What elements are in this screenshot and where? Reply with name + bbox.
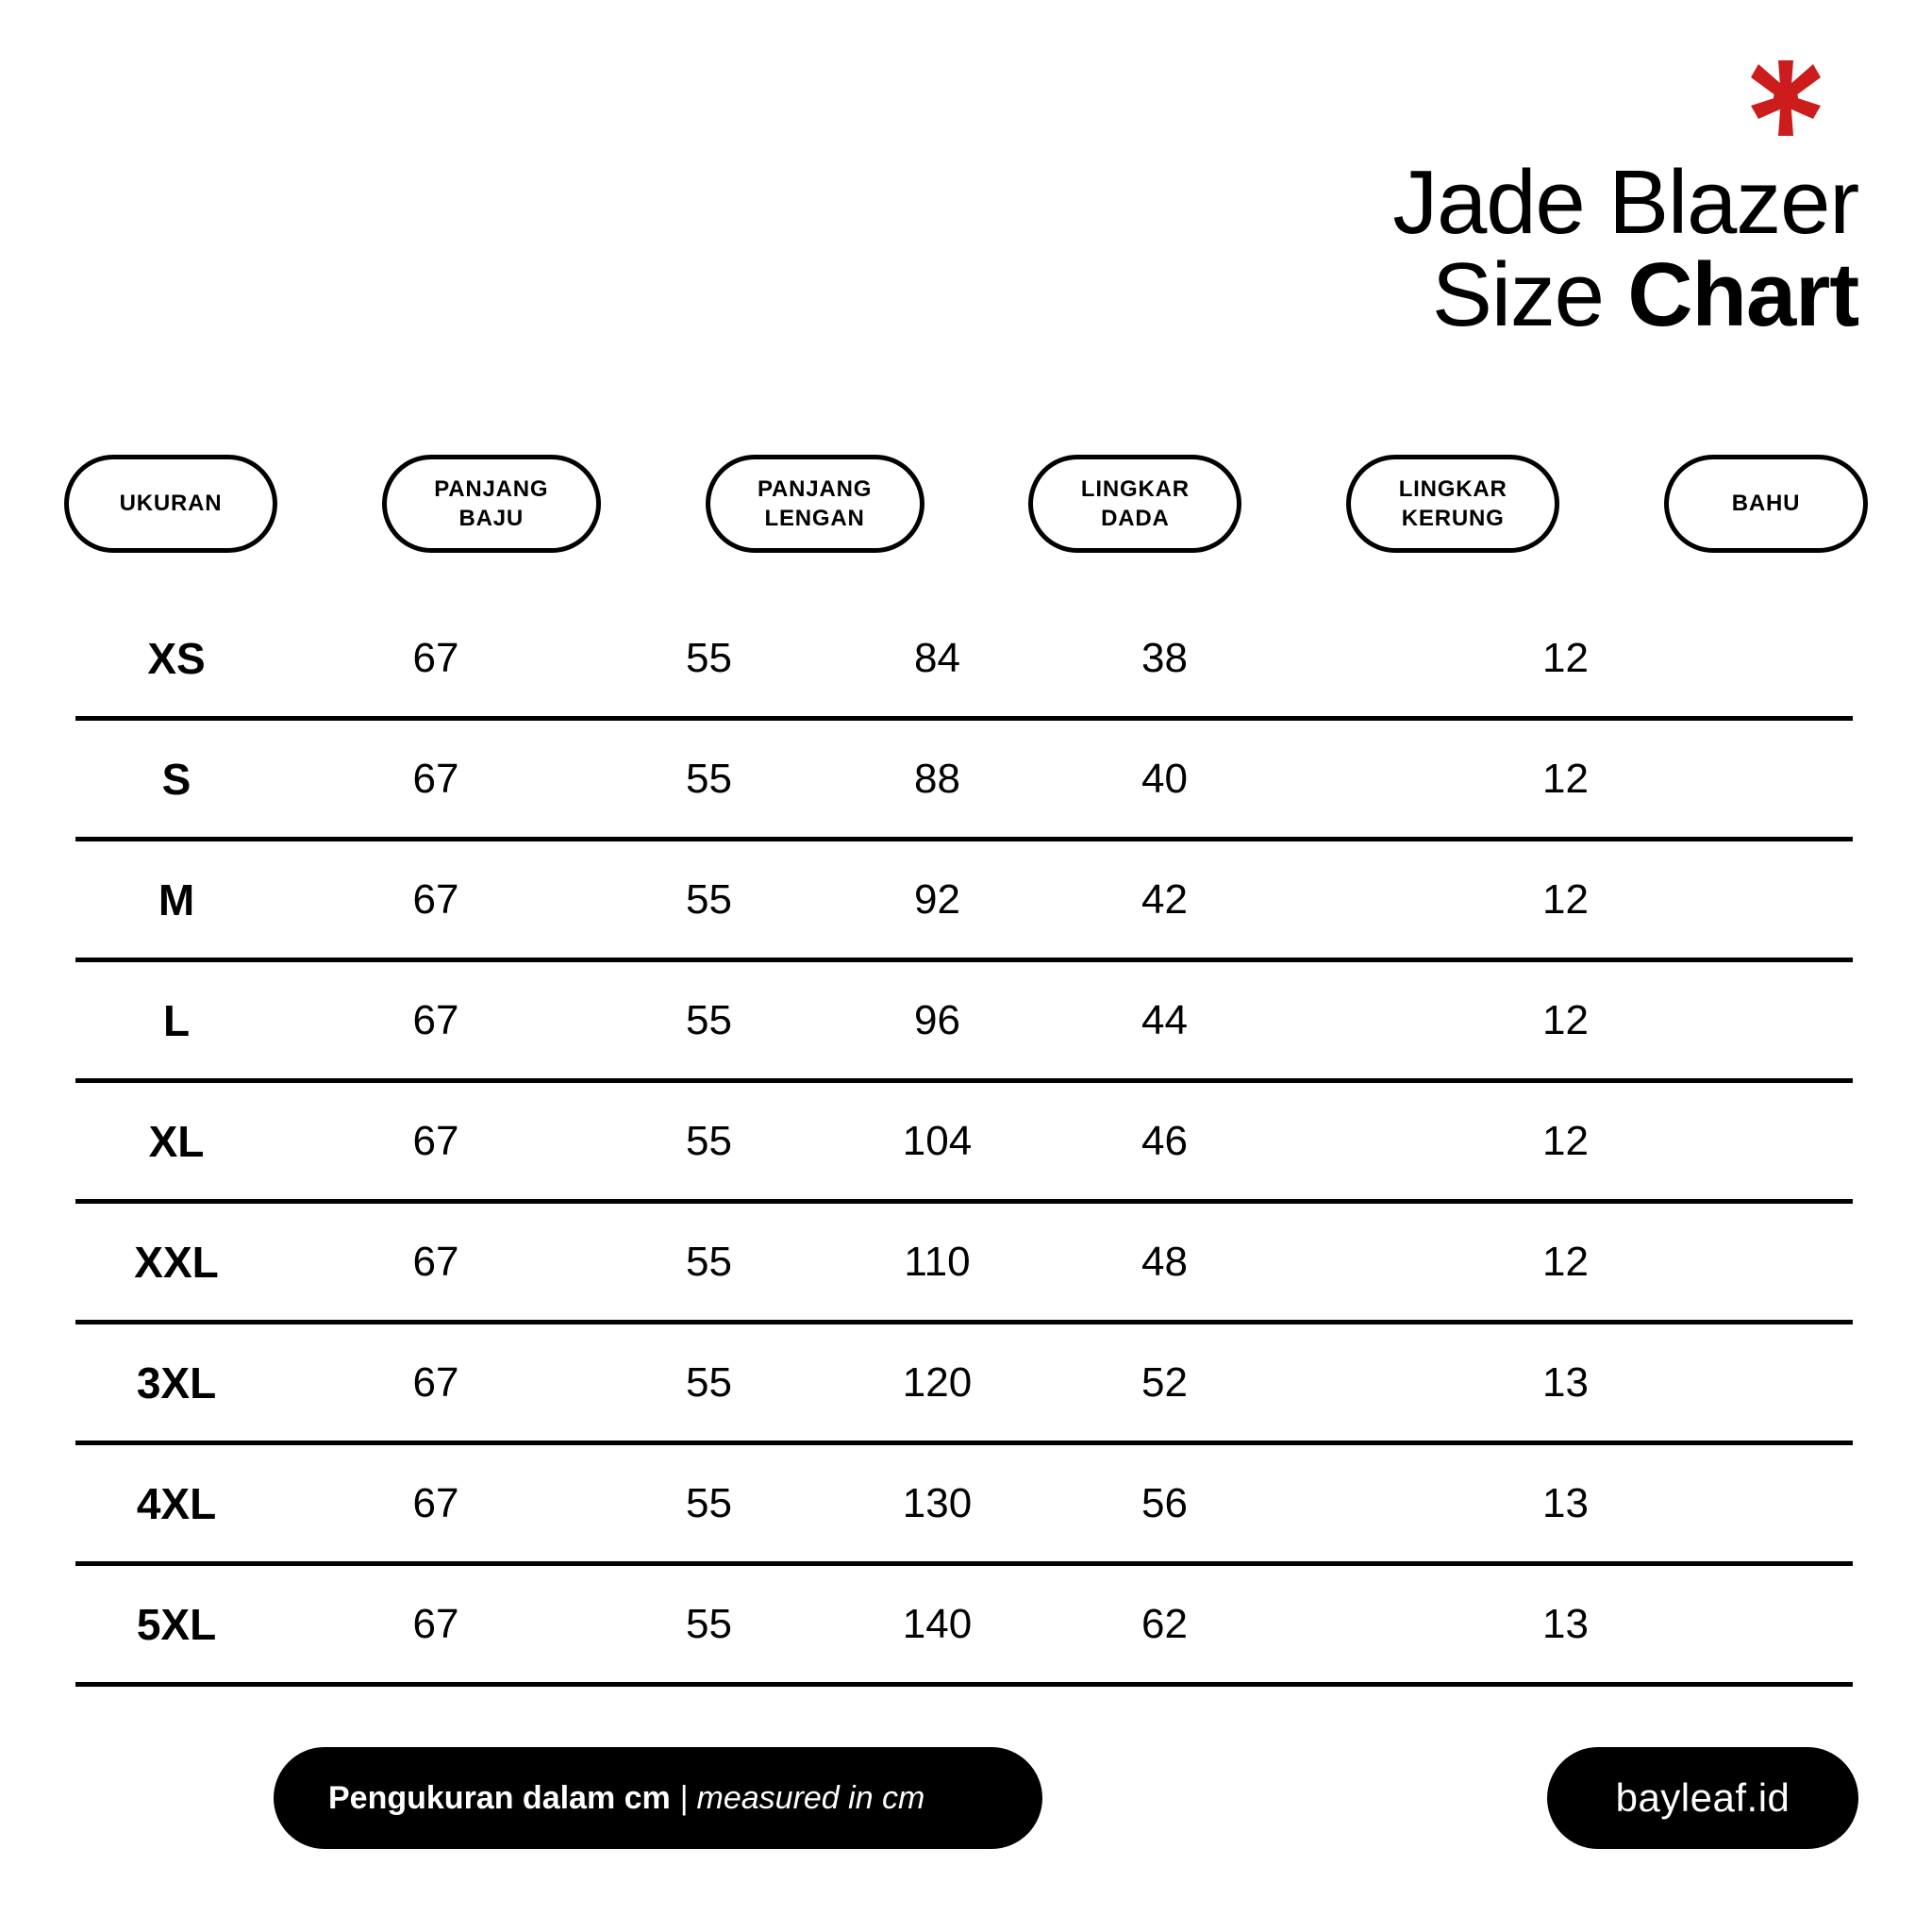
cell-size: 4XL — [75, 1482, 277, 1525]
page-title-line-1: Jade Blazer — [1392, 157, 1858, 249]
cell-lingkar-kerung: 42 — [1051, 879, 1278, 921]
cell-lingkar-dada: 130 — [824, 1483, 1051, 1524]
cell-lingkar-kerung: 44 — [1051, 1000, 1278, 1041]
cell-panjang-lengan: 55 — [594, 1483, 824, 1524]
column-header-label: LINGKAR DADA — [1074, 475, 1197, 533]
cell-panjang-lengan: 55 — [594, 1362, 824, 1404]
cell-lingkar-dada: 140 — [824, 1604, 1051, 1645]
measurement-unit-note: Pengukuran dalam cm | measured in cm — [274, 1747, 1042, 1849]
cell-panjang-lengan: 55 — [594, 638, 824, 679]
page-title-size-word: Size — [1432, 244, 1627, 345]
column-header-label: LINGKAR KERUNG — [1391, 475, 1515, 533]
cell-lingkar-kerung: 38 — [1051, 638, 1278, 679]
cell-panjang-baju: 67 — [277, 1483, 594, 1524]
cell-panjang-lengan: 55 — [594, 1604, 824, 1645]
asterisk-icon — [1392, 57, 1823, 140]
cell-panjang-baju: 67 — [277, 1362, 594, 1404]
column-header-label: PANJANG LENGAN — [750, 475, 879, 533]
table-row: 4XL 67 55 130 56 13 — [75, 1445, 1853, 1566]
page-title-line-2: Size Chart — [1392, 249, 1858, 341]
title-block: Jade Blazer Size Chart — [1392, 57, 1858, 341]
cell-panjang-lengan: 55 — [594, 1241, 824, 1283]
cell-size: XXL — [75, 1241, 277, 1284]
cell-bahu: 13 — [1278, 1483, 1853, 1524]
table-row: XS 67 55 84 38 12 — [75, 600, 1853, 721]
cell-lingkar-kerung: 40 — [1051, 758, 1278, 800]
cell-size: 5XL — [75, 1603, 277, 1646]
cell-panjang-lengan: 55 — [594, 1000, 824, 1041]
column-header-lingkar-dada: LINGKAR DADA — [1028, 455, 1241, 553]
column-header-panjang-lengan: PANJANG LENGAN — [706, 455, 924, 553]
cell-panjang-baju: 67 — [277, 879, 594, 921]
column-header-bahu: BAHU — [1664, 455, 1868, 553]
note-italic-text: | measured in cm — [679, 1780, 924, 1816]
cell-size: L — [75, 999, 277, 1042]
cell-lingkar-kerung: 46 — [1051, 1121, 1278, 1162]
cell-lingkar-dada: 92 — [824, 879, 1051, 921]
cell-lingkar-kerung: 56 — [1051, 1483, 1278, 1524]
cell-panjang-baju: 67 — [277, 638, 594, 679]
cell-panjang-lengan: 55 — [594, 879, 824, 921]
cell-panjang-baju: 67 — [277, 758, 594, 800]
cell-lingkar-dada: 88 — [824, 758, 1051, 800]
column-header-lingkar-kerung: LINGKAR KERUNG — [1346, 455, 1559, 553]
footer: Pengukuran dalam cm | measured in cm bay… — [274, 1747, 1858, 1849]
cell-lingkar-kerung: 48 — [1051, 1241, 1278, 1283]
cell-panjang-lengan: 55 — [594, 758, 824, 800]
cell-panjang-baju: 67 — [277, 1604, 594, 1645]
cell-panjang-baju: 67 — [277, 1000, 594, 1041]
cell-size: 3XL — [75, 1361, 277, 1405]
cell-bahu: 12 — [1278, 638, 1853, 679]
column-header-ukuran: UKURAN — [64, 455, 277, 553]
cell-panjang-lengan: 55 — [594, 1121, 824, 1162]
cell-lingkar-dada: 104 — [824, 1121, 1051, 1162]
note-strong-text: Pengukuran dalam cm — [328, 1780, 679, 1816]
brand-name: bayleaf.id — [1616, 1778, 1790, 1818]
measurement-table: XS 67 55 84 38 12 S 67 55 88 40 12 M 67 … — [75, 600, 1853, 1687]
cell-bahu: 12 — [1278, 1121, 1853, 1162]
table-row: L 67 55 96 44 12 — [75, 962, 1853, 1083]
cell-bahu: 13 — [1278, 1604, 1853, 1645]
cell-lingkar-dada: 96 — [824, 1000, 1051, 1041]
cell-panjang-baju: 67 — [277, 1241, 594, 1283]
cell-panjang-baju: 67 — [277, 1121, 594, 1162]
cell-bahu: 12 — [1278, 879, 1853, 921]
size-chart-page: Jade Blazer Size Chart UKURAN PANJANG BA… — [0, 0, 1932, 1932]
note-text: Pengukuran dalam cm | measured in cm — [328, 1782, 924, 1814]
table-row: M 67 55 92 42 12 — [75, 841, 1853, 962]
column-header-label: PANJANG BAJU — [426, 475, 556, 533]
cell-lingkar-dada: 110 — [824, 1241, 1051, 1283]
page-title-chart-word: Chart — [1627, 244, 1858, 345]
table-row: 5XL 67 55 140 62 13 — [75, 1566, 1853, 1687]
column-header-label: UKURAN — [112, 489, 230, 518]
table-row: S 67 55 88 40 12 — [75, 721, 1853, 841]
cell-lingkar-dada: 120 — [824, 1362, 1051, 1404]
cell-lingkar-kerung: 52 — [1051, 1362, 1278, 1404]
column-header-label: BAHU — [1724, 489, 1808, 518]
cell-size: S — [75, 758, 277, 801]
table-row: 3XL 67 55 120 52 13 — [75, 1324, 1853, 1445]
cell-lingkar-dada: 84 — [824, 638, 1051, 679]
cell-size: XS — [75, 637, 277, 680]
cell-bahu: 13 — [1278, 1362, 1853, 1404]
column-header-pills: UKURAN PANJANG BAJU PANJANG LENGAN LINGK… — [64, 455, 1868, 553]
cell-size: XL — [75, 1120, 277, 1163]
cell-lingkar-kerung: 62 — [1051, 1604, 1278, 1645]
cell-bahu: 12 — [1278, 758, 1853, 800]
column-header-panjang-baju: PANJANG BAJU — [382, 455, 601, 553]
cell-size: M — [75, 878, 277, 922]
brand-badge[interactable]: bayleaf.id — [1547, 1747, 1858, 1849]
table-row: XL 67 55 104 46 12 — [75, 1083, 1853, 1204]
table-row: XXL 67 55 110 48 12 — [75, 1204, 1853, 1324]
cell-bahu: 12 — [1278, 1241, 1853, 1283]
cell-bahu: 12 — [1278, 1000, 1853, 1041]
